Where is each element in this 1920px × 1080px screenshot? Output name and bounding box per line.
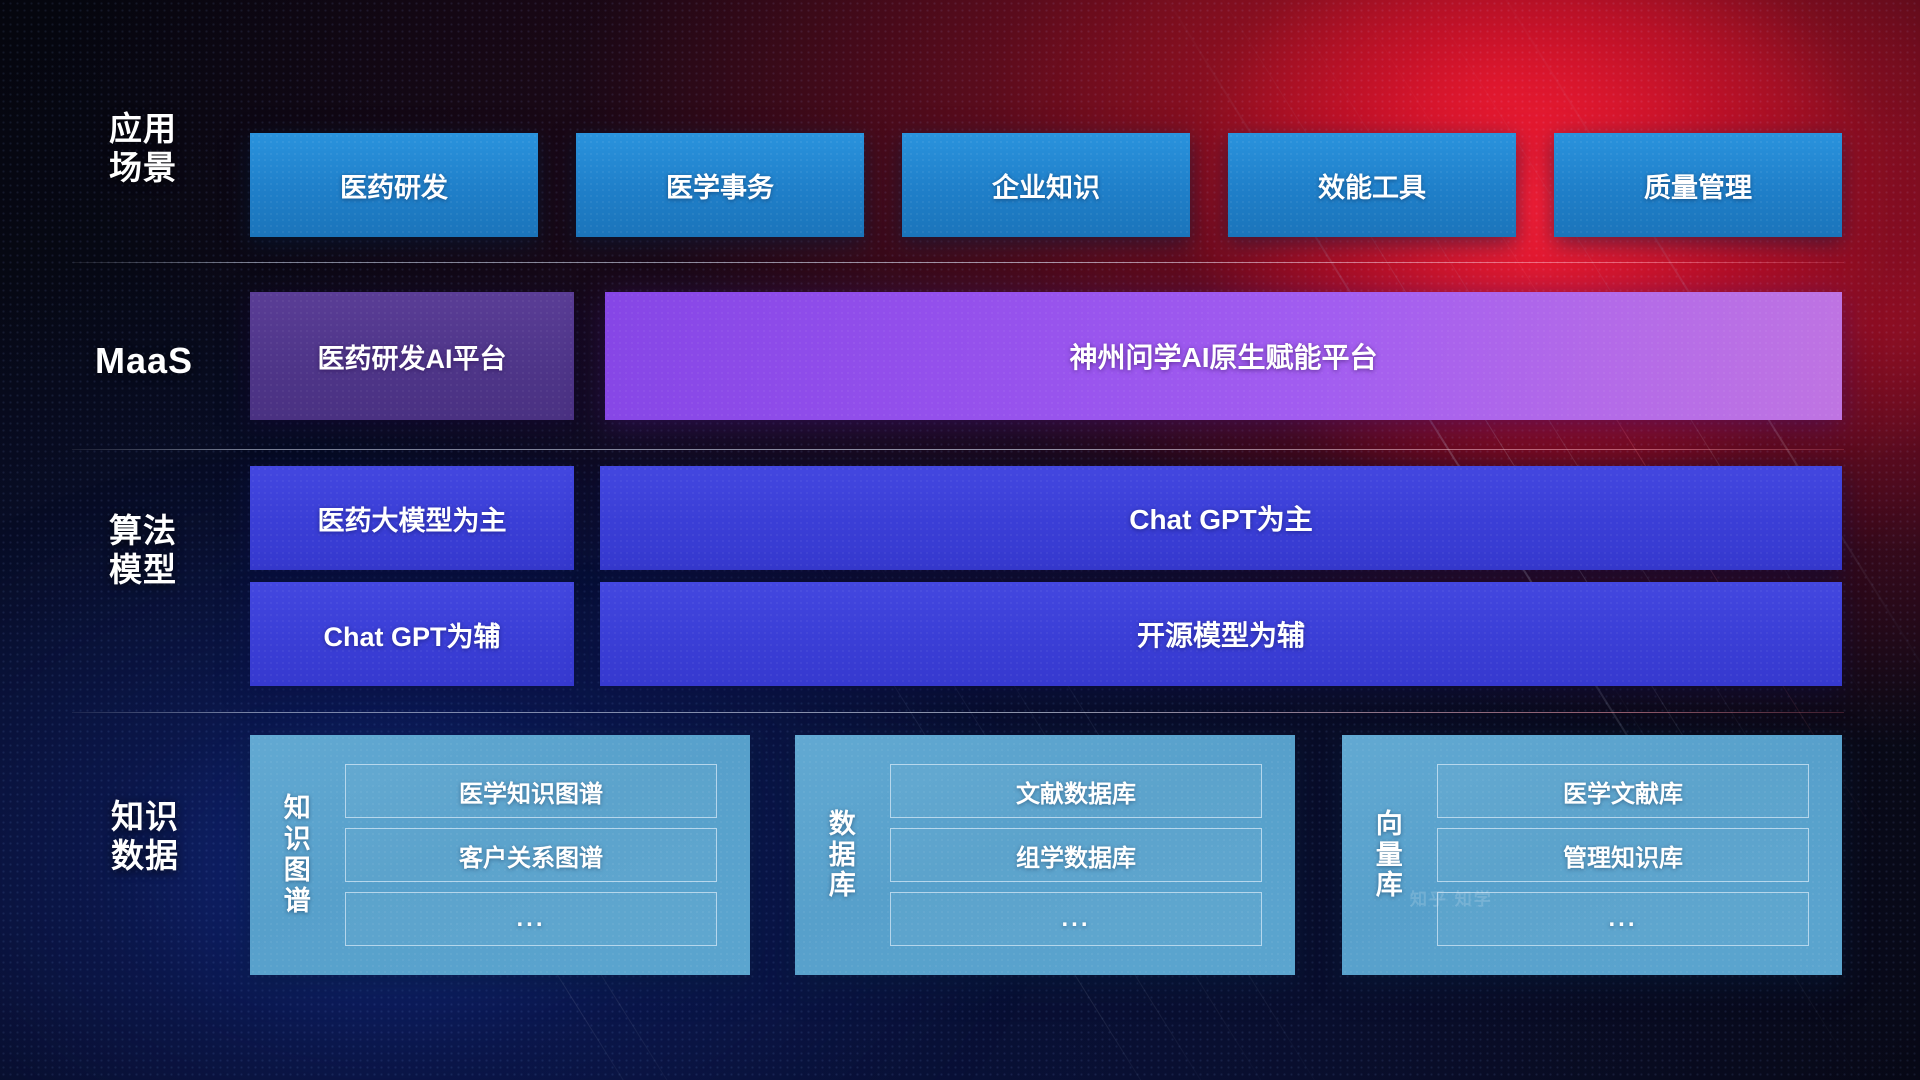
- knowledge-item[interactable]: 管理知识库: [1437, 828, 1809, 882]
- divider-2: [72, 449, 1844, 450]
- knowledge-item-ellipsis[interactable]: ...: [345, 892, 717, 946]
- app-box-label: 医药研发: [340, 166, 448, 205]
- title-char: 知: [284, 793, 312, 824]
- title-char: 量: [1376, 840, 1404, 871]
- row-label-line2: 数据: [72, 837, 218, 876]
- app-box-medical-affairs[interactable]: 医学事务: [576, 133, 864, 237]
- title-char: 库: [1376, 870, 1404, 901]
- app-box-quality-management[interactable]: 质量管理: [1554, 133, 1842, 237]
- knowledge-item[interactable]: 文献数据库: [890, 764, 1262, 818]
- title-char: 识: [284, 824, 312, 855]
- app-box-label: 质量管理: [1644, 166, 1752, 205]
- knowledge-card-title: 向 量 库: [1342, 735, 1437, 975]
- maas-box-label: 医药研发AI平台: [318, 337, 507, 376]
- algo-box-label: 开源模型为辅: [1137, 614, 1305, 654]
- row-label-line2: 模型: [78, 551, 208, 590]
- algo-box-label: Chat GPT为辅: [323, 615, 500, 654]
- title-char: 图: [284, 855, 312, 886]
- title-char: 向: [1376, 809, 1404, 840]
- algo-box-opensource-secondary[interactable]: 开源模型为辅: [600, 582, 1842, 686]
- knowledge-card-knowledge-graph[interactable]: 知 识 图 谱 医学知识图谱 客户关系图谱 ...: [250, 735, 750, 975]
- row-label-algorithm-model: 算法 模型: [78, 512, 208, 590]
- knowledge-card-database[interactable]: 数 据 库 文献数据库 组学数据库 ...: [795, 735, 1295, 975]
- row-label-line1: 算法: [78, 512, 208, 551]
- app-box-label: 医学事务: [666, 166, 774, 205]
- knowledge-card-vector-store[interactable]: 向 量 库 医学文献库 管理知识库 ...: [1342, 735, 1842, 975]
- slide-canvas: 应用 场景 医药研发 医学事务 企业知识 效能工具 质量管理 MaaS 医药研发…: [0, 0, 1920, 1080]
- row-label-line1: 知识: [72, 798, 218, 837]
- title-char: 库: [829, 870, 857, 901]
- knowledge-item[interactable]: 医学知识图谱: [345, 764, 717, 818]
- knowledge-item[interactable]: 客户关系图谱: [345, 828, 717, 882]
- row-label-maas: MaaS: [62, 340, 226, 382]
- row-label-text: MaaS: [62, 340, 226, 382]
- knowledge-card-items: 医学文献库 管理知识库 ...: [1437, 735, 1825, 975]
- divider-1: [72, 262, 1844, 263]
- app-box-label: 企业知识: [992, 166, 1100, 205]
- algo-box-chatgpt-secondary[interactable]: Chat GPT为辅: [250, 582, 574, 686]
- title-char: 数: [829, 809, 857, 840]
- knowledge-card-title: 数 据 库: [795, 735, 890, 975]
- algo-box-pharma-large-model-primary[interactable]: 医药大模型为主: [250, 466, 574, 570]
- row-label-line1: 应用: [78, 110, 208, 149]
- knowledge-card-title: 知 识 图 谱: [250, 735, 345, 975]
- row-label-application-scenario: 应用 场景: [78, 110, 208, 188]
- row-label-knowledge-data: 知识 数据: [72, 798, 218, 876]
- maas-box-label: 神州问学AI原生赋能平台: [1069, 336, 1377, 376]
- knowledge-card-items: 医学知识图谱 客户关系图谱 ...: [345, 735, 733, 975]
- app-box-enterprise-knowledge[interactable]: 企业知识: [902, 133, 1190, 237]
- app-box-medicine-rd[interactable]: 医药研发: [250, 133, 538, 237]
- algo-box-label: 医药大模型为主: [318, 499, 507, 538]
- knowledge-item-ellipsis[interactable]: ...: [1437, 892, 1809, 946]
- knowledge-item[interactable]: 医学文献库: [1437, 764, 1809, 818]
- maas-box-pharma-ai-platform[interactable]: 医药研发AI平台: [250, 292, 574, 420]
- algo-box-chatgpt-primary[interactable]: Chat GPT为主: [600, 466, 1842, 570]
- knowledge-item[interactable]: 组学数据库: [890, 828, 1262, 882]
- app-box-efficiency-tools[interactable]: 效能工具: [1228, 133, 1516, 237]
- knowledge-card-items: 文献数据库 组学数据库 ...: [890, 735, 1278, 975]
- maas-box-shenzhou-wenxue-platform[interactable]: 神州问学AI原生赋能平台: [605, 292, 1842, 420]
- knowledge-item-ellipsis[interactable]: ...: [890, 892, 1262, 946]
- algo-box-label: Chat GPT为主: [1129, 498, 1313, 538]
- title-char: 据: [829, 840, 857, 871]
- row-label-line2: 场景: [78, 149, 208, 188]
- divider-3: [72, 712, 1844, 713]
- app-box-label: 效能工具: [1318, 166, 1426, 205]
- title-char: 谱: [284, 886, 312, 917]
